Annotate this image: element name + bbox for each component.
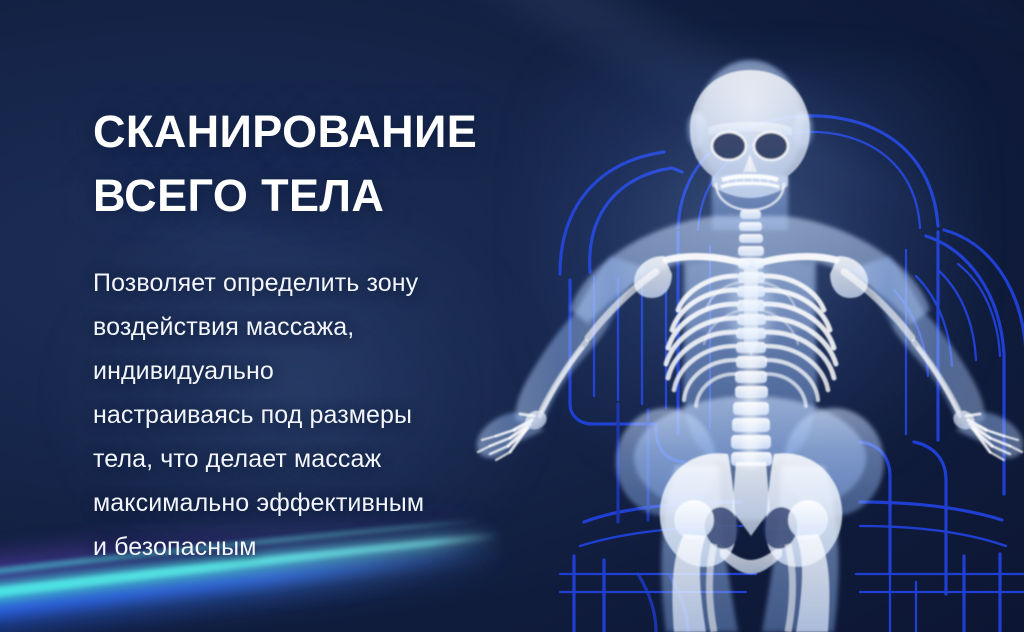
description-text: Позволяет определить зону воздействия ма… <box>93 261 513 569</box>
text-block: СКАНИРОВАНИЕ ВСЕГО ТЕЛА Позволяет опреде… <box>93 100 513 569</box>
page-title: СКАНИРОВАНИЕ ВСЕГО ТЕЛА <box>93 100 513 229</box>
slide-canvas: СКАНИРОВАНИЕ ВСЕГО ТЕЛА Позволяет опреде… <box>0 0 1024 632</box>
